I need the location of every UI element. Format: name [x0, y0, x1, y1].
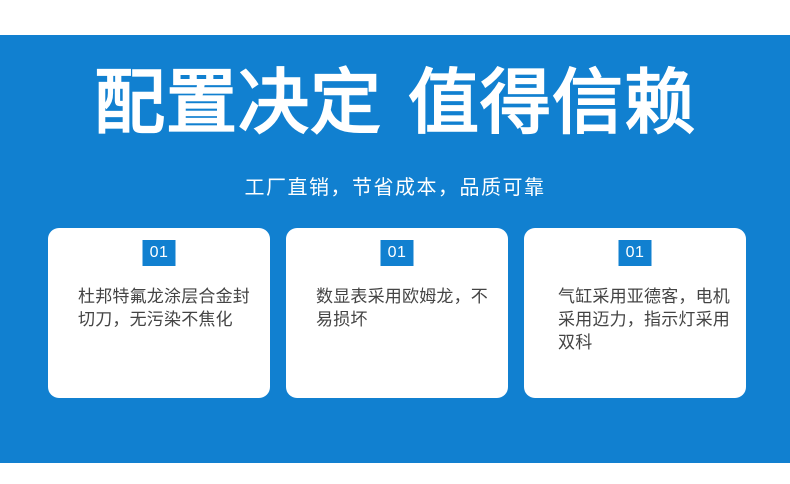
card-description: 气缸采用亚德客，电机采用迈力，指示灯采用双科 — [558, 285, 734, 354]
headline-segment-1: 配置决定 — [94, 64, 382, 143]
card-description: 数显表采用欧姆龙，不易损坏 — [316, 285, 490, 331]
feature-card: 01 杜邦特氟龙涂层合金封切刀，无污染不焦化 — [48, 228, 270, 398]
headline-segment-2: 值得信赖 — [408, 64, 696, 143]
page-title: 配置决定值得信赖 — [0, 61, 790, 147]
promo-banner: 配置决定值得信赖 工厂直销，节省成本，品质可靠 01 杜邦特氟龙涂层合金封切刀，… — [0, 35, 790, 463]
feature-card-list: 01 杜邦特氟龙涂层合金封切刀，无污染不焦化 01 数显表采用欧姆龙，不易损坏 … — [48, 228, 746, 398]
card-number-badge: 01 — [381, 240, 414, 266]
card-number-badge: 01 — [143, 240, 176, 266]
card-description: 杜邦特氟龙涂层合金封切刀，无污染不焦化 — [78, 285, 252, 331]
feature-card: 01 数显表采用欧姆龙，不易损坏 — [286, 228, 508, 398]
feature-card: 01 气缸采用亚德客，电机采用迈力，指示灯采用双科 — [524, 228, 746, 398]
card-number-badge: 01 — [619, 240, 652, 266]
page-subtitle: 工厂直销，节省成本，品质可靠 — [0, 174, 790, 202]
